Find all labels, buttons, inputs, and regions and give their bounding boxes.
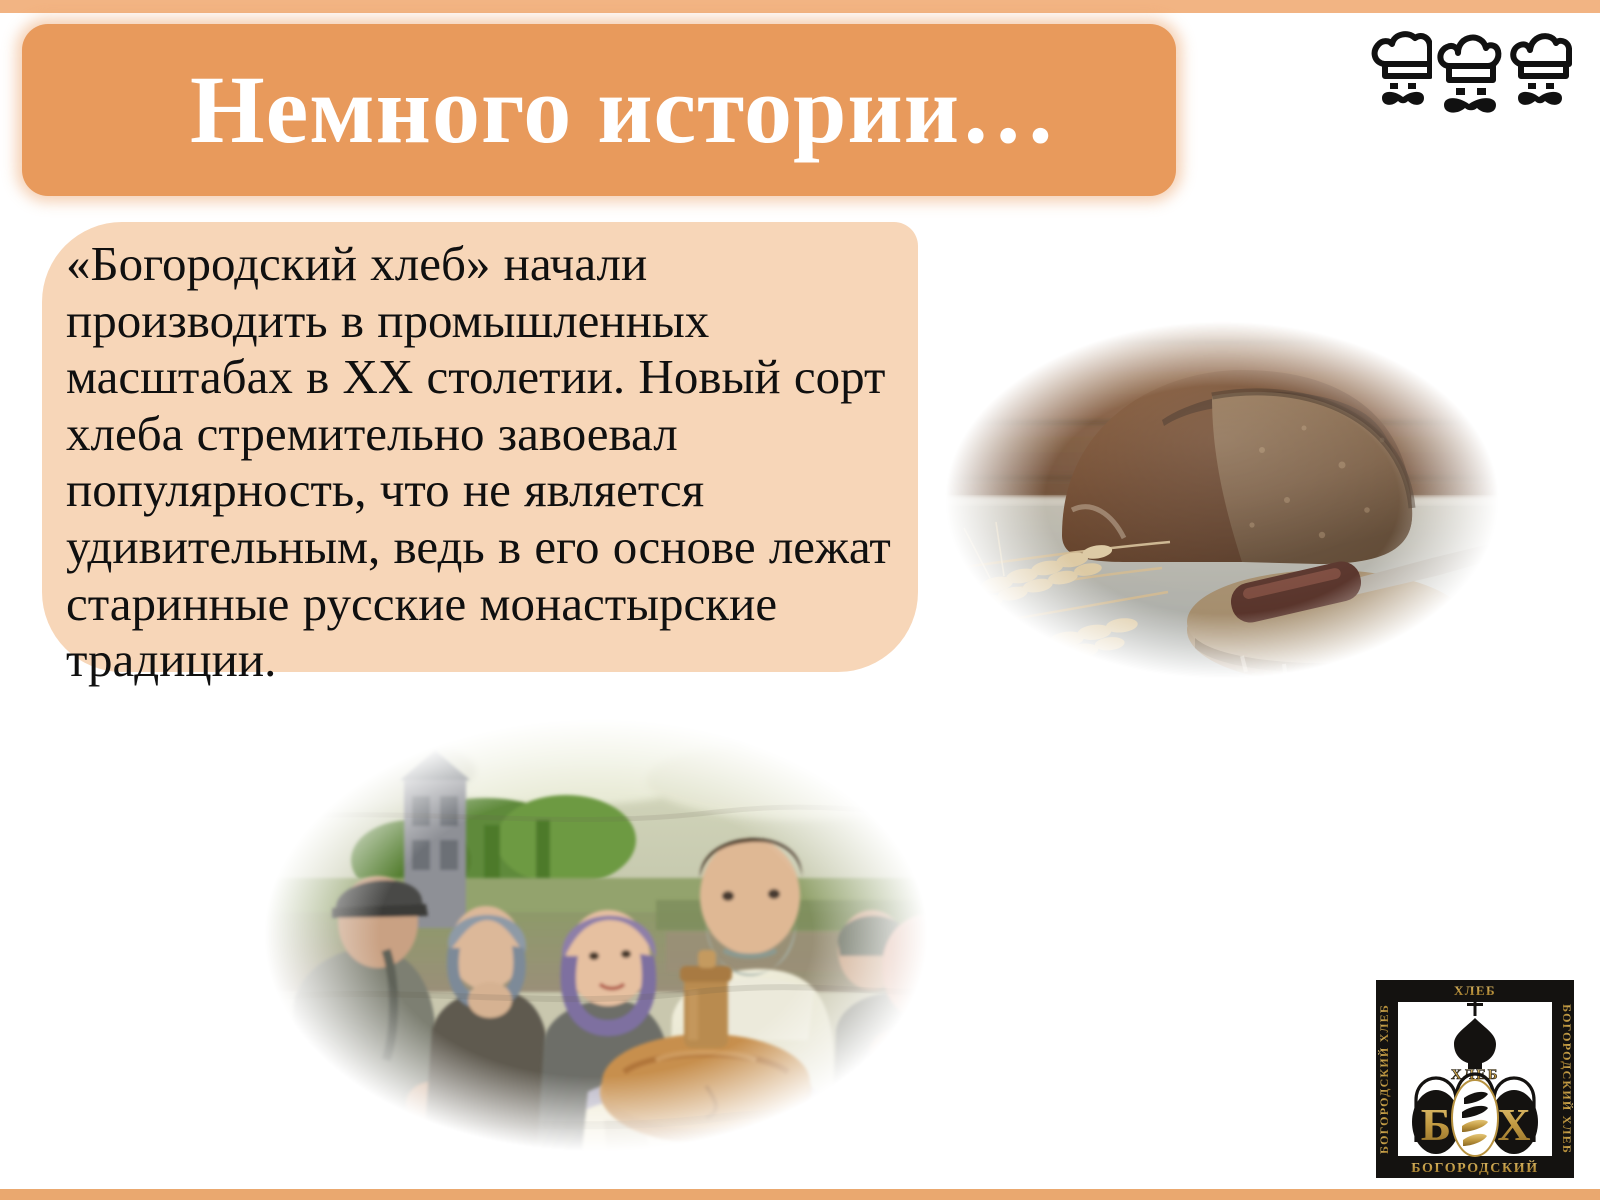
logo-bottom-word: БОГОРОДСКИЙ (1411, 1159, 1538, 1176)
chef-hat-right-icon (1510, 24, 1572, 112)
bread-photo (912, 300, 1532, 700)
chef-hat-left-icon (1370, 24, 1432, 112)
chef-hat-right-mustache (1518, 92, 1562, 105)
chef-hats-group (1370, 22, 1572, 120)
bottom-accent-rule (0, 1189, 1600, 1200)
logo-top-left-word: ХЛЕБ (1454, 983, 1496, 998)
chef-hat-center-eye-1 (1456, 88, 1465, 95)
chef-hat-left-eye-1 (1390, 83, 1398, 89)
logo-right-word: БОГОРОДСКИЙ ХЛЕБ (1560, 1004, 1574, 1154)
chef-hat-left-eye-2 (1408, 83, 1416, 89)
chef-hat-right-eye-1 (1528, 83, 1536, 89)
chef-hat-right-eye-2 (1546, 83, 1554, 89)
bread-photo-illustration (912, 300, 1532, 700)
bogorodsky-hleb-logo: ХЛЕБ БОГОРОДСКИЙ БОГОРОДСКИЙ ХЛЕБ БОГОРО… (1372, 976, 1578, 1182)
top-accent-rule (0, 0, 1600, 13)
logo-left-word: БОГОРОДСКИЙ ХЛЕБ (1377, 1004, 1391, 1154)
painting-illustration (236, 700, 956, 1170)
company-logo: ХЛЕБ БОГОРОДСКИЙ БОГОРОДСКИЙ ХЛЕБ БОГОРО… (1372, 976, 1578, 1182)
slide-root: Немного истории… (0, 0, 1600, 1200)
chef-hat-left-mustache (1382, 92, 1424, 105)
chef-hat-center-icon (1436, 22, 1506, 120)
logo-monogram-h: Х (1497, 1099, 1530, 1150)
title-banner: Немного истории… (22, 24, 1176, 196)
page-title: Немного истории… (190, 62, 1057, 158)
body-text-card: «Богородский хлеб» начали производить в … (42, 222, 918, 672)
logo-monogram-b: Б (1421, 1099, 1451, 1150)
painting-image (236, 700, 956, 1170)
chef-hat-center-eye-2 (1477, 88, 1486, 95)
chef-hat-center-mustache (1444, 98, 1496, 112)
logo-bread-icon (1452, 1080, 1498, 1156)
body-paragraph: «Богородский хлеб» начали производить в … (66, 236, 892, 689)
